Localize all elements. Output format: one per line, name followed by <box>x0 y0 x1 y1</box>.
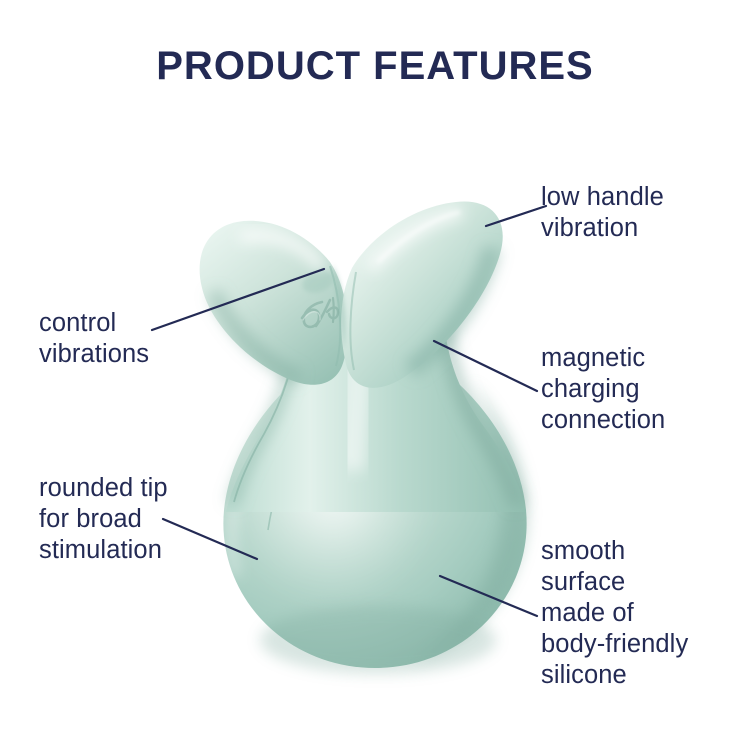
callout-smooth-surface-silicone: smooth surface made of body-friendly sil… <box>541 536 746 691</box>
leader-line-smooth-surface-silicone <box>440 576 537 616</box>
leader-line-low-handle-vibration <box>486 206 546 226</box>
callout-low-handle-vibration: low handle vibration <box>541 182 746 244</box>
leader-line-magnetic-charging-connection <box>434 341 537 391</box>
callout-rounded-tip-broad-stimulation: rounded tip for broad stimulation <box>39 473 239 566</box>
callout-magnetic-charging-connection: magnetic charging connection <box>541 343 746 436</box>
callout-control-vibrations: control vibrations <box>39 308 229 370</box>
product-features-page: PRODUCT FEATURES <box>0 0 750 750</box>
